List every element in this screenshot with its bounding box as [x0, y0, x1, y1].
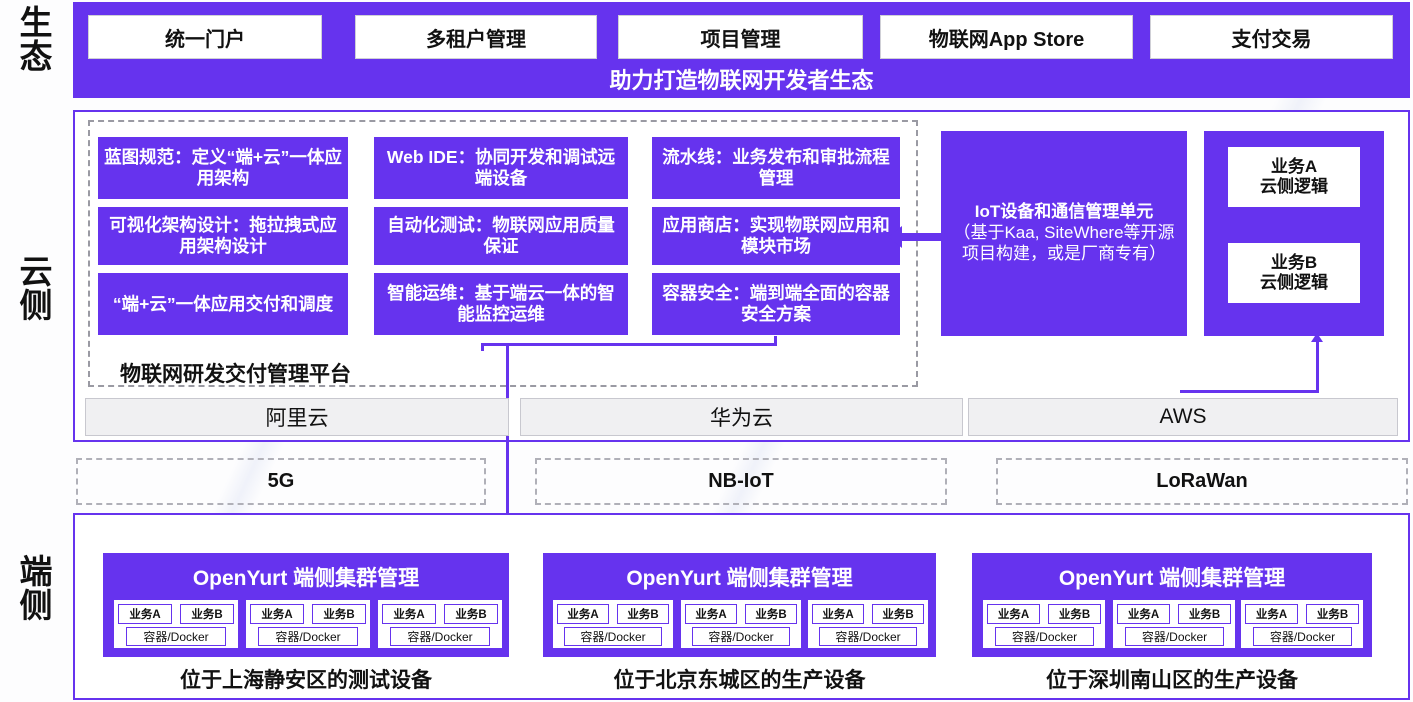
edge-runtime[interactable]: 容器/Docker [1253, 627, 1352, 646]
feature-integrated-delivery-scheduling[interactable]: “端+云”一体应用交付和调度 [98, 273, 348, 335]
edge-service-a[interactable]: 业务A [382, 604, 436, 624]
edge-runtime[interactable]: 容器/Docker [564, 627, 662, 646]
edge-to-business-connector-vertical [1316, 341, 1319, 393]
eco-item-payment[interactable]: 支付交易 [1150, 15, 1393, 59]
edge-node[interactable]: 业务A 业务B 容器/Docker [552, 599, 674, 649]
edge-node[interactable]: 业务A 业务B 容器/Docker [245, 599, 371, 649]
business-card-line2: 云侧逻辑 [1260, 177, 1328, 197]
business-card-line2: 云侧逻辑 [1260, 273, 1328, 293]
eco-item-unified-portal[interactable]: 统一门户 [88, 15, 322, 59]
platform-title: 物联网研发交付管理平台 [120, 358, 351, 388]
feature-intelligent-ops[interactable]: 智能运维：基于端云一体的智能监控运维 [374, 273, 628, 335]
edge-runtime[interactable]: 容器/Docker [1125, 627, 1224, 646]
network-nbiot[interactable]: NB-IoT [535, 458, 947, 505]
feature-label: 智能运维：基于端云一体的智能监控运维 [380, 283, 622, 324]
edge-service-b[interactable]: 业务B [872, 604, 924, 624]
edge-service-b[interactable]: 业务B [180, 604, 234, 624]
network-label: 5G [268, 470, 295, 493]
feature-label: 蓝图规范：定义“端+云”一体应用架构 [104, 147, 342, 188]
edge-service-b[interactable]: 业务B [1178, 604, 1231, 624]
cloud-vendor-label: AWS [1159, 405, 1206, 429]
layer-label-cloud-char-1: 云 [6, 255, 66, 289]
edge-service-a[interactable]: 业务A [685, 604, 737, 624]
network-label: NB-IoT [708, 470, 774, 493]
edge-node[interactable]: 业务A 业务B 容器/Docker [982, 599, 1106, 649]
feature-label: 应用商店：实现物联网应用和模块市场 [658, 215, 894, 256]
edge-service-a[interactable]: 业务A [1117, 604, 1170, 624]
edge-node[interactable]: 业务A 业务B 容器/Docker [807, 599, 929, 649]
eco-item-multi-tenant[interactable]: 多租户管理 [355, 15, 597, 59]
edge-service-a[interactable]: 业务A [118, 604, 172, 624]
cloud-vendor-aliyun[interactable]: 阿里云 [85, 398, 509, 436]
edge-to-business-connector-horizontal [1180, 390, 1319, 393]
edge-node[interactable]: 业务A 业务B 容器/Docker [377, 599, 503, 649]
iot-unit-title: IoT设备和通信管理单元 [949, 202, 1179, 223]
feature-automated-testing[interactable]: 自动化测试：物联网应用质量保证 [374, 207, 628, 265]
edge-node[interactable]: 业务A 业务B 容器/Docker [680, 599, 802, 649]
platform-bracket-right-stub [774, 336, 777, 345]
cloud-vendor-label: 阿里云 [266, 402, 329, 432]
feature-blueprint-spec[interactable]: 蓝图规范：定义“端+云”一体应用架构 [98, 137, 348, 199]
edge-service-a[interactable]: 业务A [1245, 604, 1298, 624]
eco-item-label: 物联网App Store [929, 23, 1085, 52]
cloud-vendor-label: 华为云 [710, 402, 773, 432]
feature-pipeline[interactable]: 流水线：业务发布和审批流程管理 [652, 137, 900, 199]
network-lorawan[interactable]: LoRaWan [996, 458, 1408, 505]
iot-device-management-unit[interactable]: IoT设备和通信管理单元 （基于Kaa, SiteWhere等开源项目构建，或是… [941, 131, 1187, 336]
business-b-cloud-logic[interactable]: 业务B 云侧逻辑 [1228, 243, 1360, 303]
edge-service-b[interactable]: 业务B [1306, 604, 1359, 624]
cloud-vendor-aws[interactable]: AWS [968, 398, 1398, 436]
layer-label-cloud-char-2: 侧 [6, 289, 66, 323]
feature-container-security[interactable]: 容器安全：端到端全面的容器安全方案 [652, 273, 900, 335]
edge-cluster-shenzhen[interactable]: OpenYurt 端侧集群管理 业务A 业务B 容器/Docker 业务A 业务… [972, 553, 1372, 657]
edge-node[interactable]: 业务A 业务B 容器/Docker [1240, 599, 1364, 649]
edge-cluster-shanghai[interactable]: OpenYurt 端侧集群管理 业务A 业务B 容器/Docker 业务A 业务… [103, 553, 509, 657]
eco-item-project-management[interactable]: 项目管理 [618, 15, 863, 59]
layer-label-cloud: 云 侧 [6, 255, 66, 347]
edge-site-caption-shenzhen: 位于深圳南山区的生产设备 [972, 664, 1372, 694]
eco-item-app-store[interactable]: 物联网App Store [880, 15, 1133, 59]
edge-runtime[interactable]: 容器/Docker [390, 627, 490, 646]
edge-service-a[interactable]: 业务A [987, 604, 1040, 624]
edge-cluster-title: OpenYurt 端侧集群管理 [972, 562, 1372, 592]
edge-runtime[interactable]: 容器/Docker [819, 627, 917, 646]
edge-node[interactable]: 业务A 业务B 容器/Docker [113, 599, 239, 649]
edge-site-caption-beijing: 位于北京东城区的生产设备 [543, 664, 936, 694]
network-label: LoRaWan [1156, 470, 1247, 493]
iot-to-appstore-arrowhead [888, 226, 902, 248]
feature-label: “端+云”一体应用交付和调度 [113, 294, 333, 315]
feature-label: 容器安全：端到端全面的容器安全方案 [658, 283, 894, 324]
edge-service-b[interactable]: 业务B [617, 604, 669, 624]
layer-label-ecosystem-char-1: 生 [6, 6, 66, 40]
layer-label-edge-char-2: 侧 [6, 589, 66, 623]
feature-visual-architecture-design[interactable]: 可视化架构设计：拖拉拽式应用架构设计 [98, 207, 348, 265]
network-5g[interactable]: 5G [76, 458, 486, 505]
edge-service-a[interactable]: 业务A [250, 604, 304, 624]
feature-label: 自动化测试：物联网应用质量保证 [380, 215, 622, 256]
feature-web-ide[interactable]: Web IDE：协同开发和调试远端设备 [374, 137, 628, 199]
eco-item-label: 统一门户 [165, 23, 245, 52]
layer-label-edge-char-1: 端 [6, 555, 66, 589]
eco-item-label: 项目管理 [701, 23, 781, 52]
edge-service-b[interactable]: 业务B [1048, 604, 1101, 624]
layer-label-ecosystem: 生 态 [6, 6, 66, 98]
edge-cluster-title: OpenYurt 端侧集群管理 [103, 562, 509, 592]
ecosystem-tagline-text: 助力打造物联网开发者生态 [609, 63, 873, 95]
edge-service-b[interactable]: 业务B [745, 604, 797, 624]
ecosystem-tagline: 助力打造物联网开发者生态 [73, 62, 1410, 96]
iot-unit-subtitle: （基于Kaa, SiteWhere等开源项目构建，或是厂商专有） [949, 223, 1179, 264]
edge-service-b[interactable]: 业务B [444, 604, 498, 624]
edge-service-a[interactable]: 业务A [812, 604, 864, 624]
layer-label-edge: 端 侧 [6, 555, 66, 647]
edge-service-b[interactable]: 业务B [312, 604, 366, 624]
edge-runtime[interactable]: 容器/Docker [692, 627, 790, 646]
cloud-vendor-huawei[interactable]: 华为云 [520, 398, 963, 436]
feature-label: 可视化架构设计：拖拉拽式应用架构设计 [104, 215, 342, 256]
edge-cluster-title: OpenYurt 端侧集群管理 [543, 562, 936, 592]
feature-app-store[interactable]: 应用商店：实现物联网应用和模块市场 [652, 207, 900, 265]
feature-label: 流水线：业务发布和审批流程管理 [658, 147, 894, 188]
edge-runtime[interactable]: 容器/Docker [995, 627, 1094, 646]
business-card-line1: 业务B [1260, 253, 1328, 273]
platform-bracket-left-stub [481, 343, 484, 351]
edge-runtime[interactable]: 容器/Docker [258, 627, 358, 646]
edge-to-business-arrowhead [1311, 333, 1323, 342]
layer-label-ecosystem-char-2: 态 [6, 40, 66, 74]
edge-runtime[interactable]: 容器/Docker [126, 627, 226, 646]
eco-item-label: 支付交易 [1232, 23, 1312, 52]
edge-node[interactable]: 业务A 业务B 容器/Docker [1112, 599, 1236, 649]
platform-title-text: 物联网研发交付管理平台 [120, 363, 351, 386]
edge-service-a[interactable]: 业务A [557, 604, 609, 624]
edge-cluster-beijing[interactable]: OpenYurt 端侧集群管理 业务A 业务B 容器/Docker 业务A 业务… [543, 553, 936, 657]
feature-label: Web IDE：协同开发和调试远端设备 [380, 147, 622, 188]
iot-to-appstore-line [900, 233, 945, 241]
platform-bracket-horizontal [481, 343, 777, 346]
edge-site-caption-shanghai: 位于上海静安区的测试设备 [103, 664, 509, 694]
business-card-line1: 业务A [1260, 157, 1328, 177]
architecture-diagram: 生 态 统一门户 多租户管理 项目管理 物联网App Store 支付交易 助力… [0, 0, 1413, 702]
eco-item-label: 多租户管理 [426, 23, 526, 52]
business-a-cloud-logic[interactable]: 业务A 云侧逻辑 [1228, 147, 1360, 207]
